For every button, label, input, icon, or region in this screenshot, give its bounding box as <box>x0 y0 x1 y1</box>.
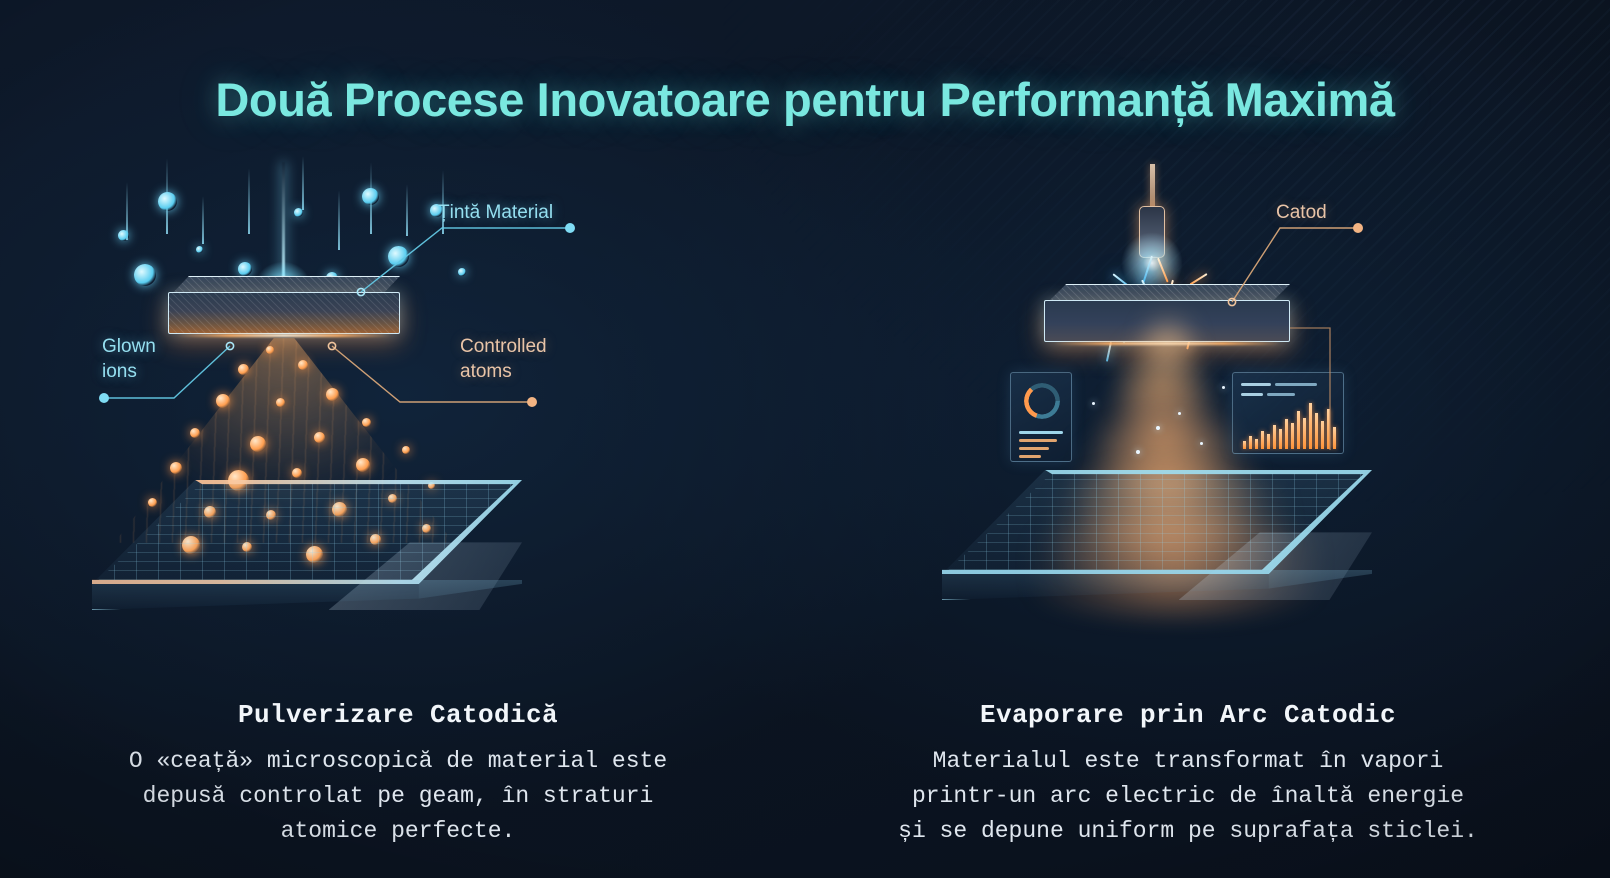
callout-glown-ions: Glown ions <box>102 334 156 384</box>
cathodic-arc-scene: Catod <box>860 150 1520 670</box>
diagram-sputtering: Țintă Material Glown ions Controlled ato… <box>70 150 730 670</box>
caption-title: Pulverizare Catodică <box>58 700 738 730</box>
callout-cathode: Catod <box>1276 200 1327 225</box>
sputtering-scene: Țintă Material Glown ions Controlled ato… <box>70 150 730 670</box>
caption-body: O «ceață» microscopică de material este … <box>58 744 738 849</box>
page-title: Două Procese Inovatoare pentru Performan… <box>0 72 1610 127</box>
callout-controlled-atoms: Controlled atoms <box>460 334 547 384</box>
caption-cathodic-arc: Evaporare prin Arc Catodic Materialul es… <box>848 700 1528 849</box>
caption-title: Evaporare prin Arc Catodic <box>848 700 1528 730</box>
leader-line-controlled-atoms <box>70 150 730 670</box>
diagram-cathodic-arc: Catod <box>860 150 1520 670</box>
infographic-canvas: Două Procese Inovatoare pentru Performan… <box>0 0 1610 878</box>
caption-body: Materialul este transformat în vapori pr… <box>848 744 1528 849</box>
callout-target-material: Țintă Material <box>438 200 553 225</box>
leader-line-cathode <box>860 150 1520 670</box>
caption-sputtering: Pulverizare Catodică O «ceață» microscop… <box>58 700 738 849</box>
